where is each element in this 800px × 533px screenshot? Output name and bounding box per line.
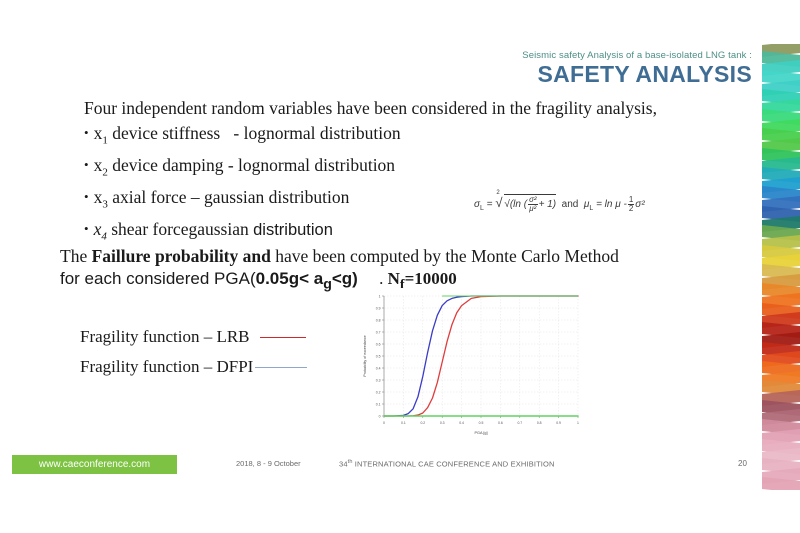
list-item: •x4 shear forcegaussian distribution [84, 217, 401, 249]
x-tick-label: 0.4 [459, 421, 464, 425]
statement-line-1: The Faillure probability and have been c… [60, 246, 619, 267]
variable-text: device stiffness [112, 123, 220, 143]
x-tick-label: 0 [383, 421, 385, 425]
variable-text: axial force – gaussian distribution [112, 187, 349, 207]
fragility-curves-chart: 00.10.20.30.40.50.60.70.80.9100.10.20.30… [358, 288, 586, 438]
y-tick-label: 0.6 [376, 342, 381, 346]
statement-prefix: The [60, 246, 92, 266]
lognormal-parameters-formula: σL = 2 √ √(ln ( σ² μ² + 1) and μL = ln μ… [474, 194, 645, 213]
x-axis-label: PGA [g] [474, 431, 487, 435]
x-tick-label: 0.1 [401, 421, 406, 425]
footer-date: 2018, 8 - 9 October [236, 459, 301, 468]
variable-text: device damping - lognormal distribution [112, 155, 395, 175]
variable-text: shear forcegaussian [111, 219, 253, 239]
variable-index: 4 [101, 231, 107, 243]
bullet-icon: • [84, 157, 89, 172]
decorative-mosaic-strip [762, 44, 800, 490]
bullet-icon: • [84, 221, 89, 236]
formula-outer-radical: 2 √ √(ln ( σ² μ² + 1) [495, 194, 556, 213]
footer-conference-name: 34th INTERNATIONAL CAE CONFERENCE AND EX… [339, 459, 555, 469]
statement-bold-phrase: Faillure probability and [92, 246, 271, 266]
y-tick-label: 0.3 [376, 378, 381, 382]
variable-symbol: x [94, 155, 103, 175]
footer-page-number: 20 [738, 459, 747, 468]
x-tick-label: 0.5 [479, 421, 484, 425]
y-tick-label: 0.8 [376, 318, 381, 322]
fragility-chart-svg: 00.10.20.30.40.50.60.70.80.9100.10.20.30… [358, 288, 586, 438]
x-tick-label: 0.8 [537, 421, 542, 425]
y-tick-label: 0 [379, 414, 381, 418]
variable-index: 2 [102, 167, 108, 179]
formula-equals: = [487, 199, 493, 210]
bullet-icon: • [84, 189, 89, 204]
footer-conf-number: 34 [339, 460, 348, 469]
formula-mu-rhs: = ln μ - [596, 199, 627, 210]
intro-text: Four independent random variables have b… [84, 98, 657, 119]
x-tick-label: 0.6 [498, 421, 503, 425]
x-tick-label: 0.9 [556, 421, 561, 425]
formula-mu-l-sub: L [589, 205, 593, 212]
formula-inner-end: + 1) [539, 199, 557, 210]
statement-suffix: have been computed by the Monte Carlo Me… [271, 246, 619, 266]
statement-dot: . [379, 269, 383, 288]
pga-subscript: g [323, 276, 332, 292]
formula-conjunction: and [562, 199, 579, 210]
x-tick-label: 1 [577, 421, 579, 425]
formula-one-half: 1 2 [628, 196, 634, 213]
variable-symbol: x [94, 123, 103, 143]
variable-index: 1 [102, 135, 108, 147]
legend-label: Fragility function – LRB [80, 327, 250, 346]
formula-radicand: √(ln ( σ² μ² + 1) [504, 194, 556, 213]
formula-variance-ratio: σ² μ² [528, 196, 538, 213]
x-tick-label: 0.3 [440, 421, 445, 425]
pga-prefix: for each considered PGA( [60, 269, 256, 288]
radical-icon: √ [495, 195, 502, 210]
list-item: •x3 axial force – gaussian distribution [84, 185, 401, 217]
nf-symbol: N [388, 269, 400, 288]
pga-lower-bound: 0.05g [256, 269, 299, 288]
x-tick-label: 0.2 [420, 421, 425, 425]
slide: Seismic safety Analysis of a base-isolat… [0, 0, 800, 533]
y-axis-label: Probability of exceedance [363, 335, 367, 376]
y-tick-label: 0.4 [376, 366, 381, 370]
footer-website-link[interactable]: www.caeconference.com [12, 455, 177, 474]
list-item: •x2 device damping - lognormal distribut… [84, 153, 401, 185]
variable-symbol: x [94, 187, 103, 207]
x-tick-label: 0.7 [517, 421, 522, 425]
page-title: SAFETY ANALYSIS [0, 62, 752, 87]
random-variables-list: •x1 device stiffness - lognormal distrib… [84, 121, 401, 249]
bullet-icon: • [84, 125, 89, 140]
slide-header: Seismic safety Analysis of a base-isolat… [0, 50, 758, 87]
y-tick-label: 0.1 [376, 402, 381, 406]
legend-item-lrb: Fragility function – LRB [80, 322, 307, 352]
footer-conf-text: INTERNATIONAL CAE CONFERENCE AND EXHIBIT… [353, 460, 555, 469]
formula-sigma-l-sub: L [480, 205, 484, 212]
y-tick-label: 0.7 [376, 330, 381, 334]
legend-swatch-lrb [260, 337, 306, 338]
legend-label: Fragility function – DFPI [80, 357, 253, 376]
list-item: •x1 device stiffness - lognormal distrib… [84, 121, 401, 153]
nf-value: =10000 [405, 269, 457, 288]
variable-tail: distribution [253, 221, 333, 239]
formula-inner: √(ln ( [504, 199, 527, 210]
pga-mid: < a [299, 269, 323, 288]
y-tick-label: 0.9 [376, 306, 381, 310]
y-tick-label: 1 [379, 294, 381, 298]
y-tick-label: 0.5 [376, 354, 381, 358]
legend-swatch-dfpi [255, 367, 307, 368]
formula-frac-den: μ² [528, 205, 538, 213]
variable-index: 3 [102, 199, 108, 211]
y-tick-label: 0.2 [376, 390, 381, 394]
chart-legend: Fragility function – LRB Fragility funct… [80, 322, 307, 382]
formula-half-den: 2 [628, 205, 634, 213]
legend-item-dfpi: Fragility function – DFPI [80, 352, 307, 382]
formula-sigma-squared: σ² [635, 199, 644, 210]
variable-tail: - lognormal distribution [233, 123, 400, 143]
pga-upper-bound: <g) [332, 269, 358, 288]
